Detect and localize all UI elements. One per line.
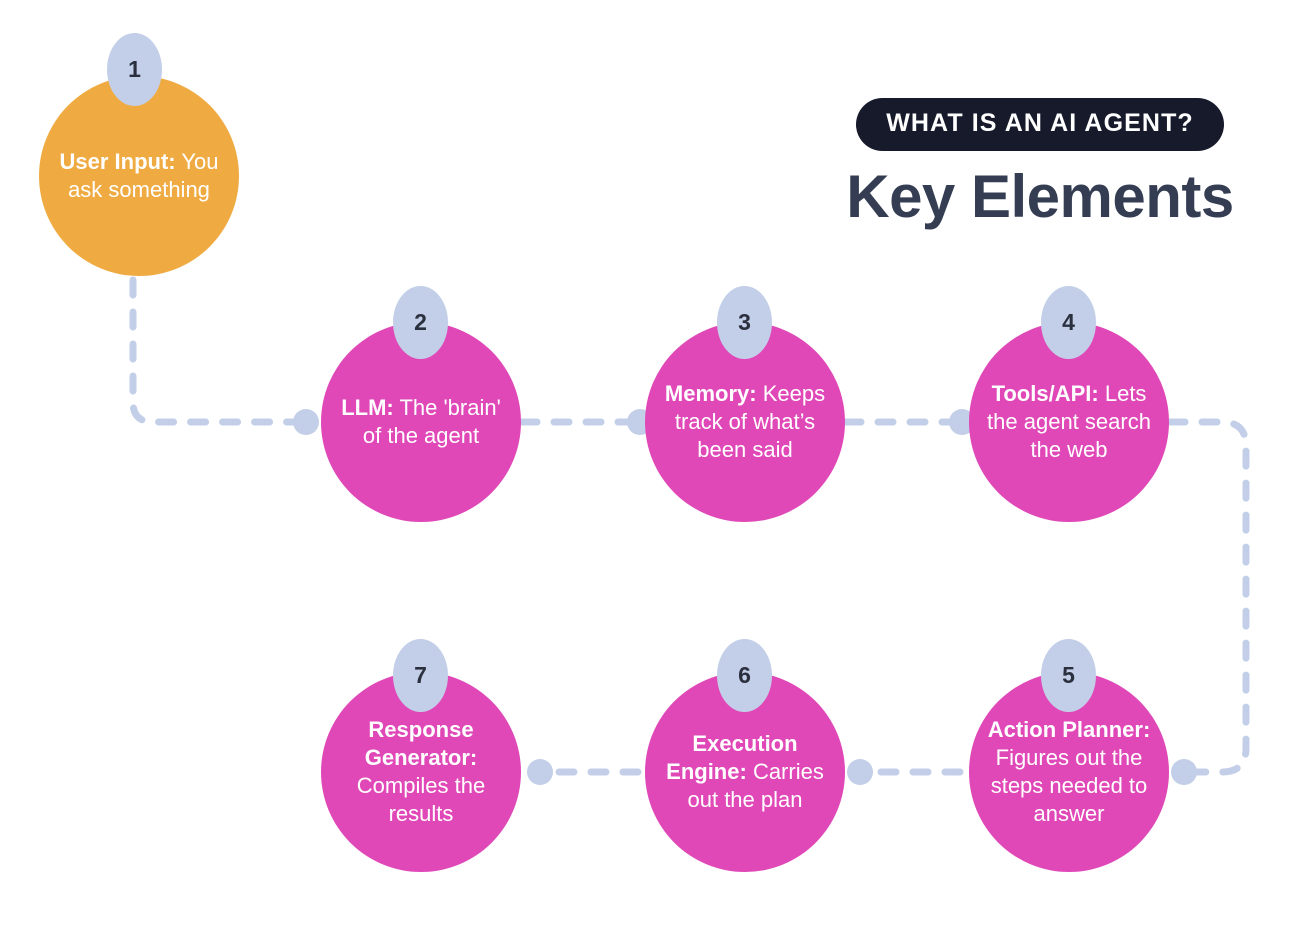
edge-endpoint-dot-2 (293, 409, 319, 435)
node-lead-4: Tools/API: (992, 381, 1099, 406)
node-body-5: Figures out the steps needed to answer (991, 745, 1148, 826)
step-badge-1: 1 (107, 33, 162, 106)
eyebrow-badge: WHAT IS AN AI AGENT? (856, 98, 1224, 151)
node-user-input[interactable]: User Input: You ask something (39, 76, 239, 276)
step-badge-2: 2 (393, 286, 448, 359)
node-body-7: Compiles the results (357, 773, 485, 826)
infographic-canvas: WHAT IS AN AI AGENT? Key Elements 1 User… (0, 0, 1302, 934)
step-badge-4: 4 (1041, 286, 1096, 359)
edge-endpoint-dot-5 (1171, 759, 1197, 785)
node-lead-3: Memory: (665, 381, 757, 406)
node-label-6: Execution Engine: Carries out the plan (657, 730, 833, 814)
node-lead-5: Action Planner: (988, 717, 1151, 742)
step-badge-5: 5 (1041, 639, 1096, 712)
step-badge-7: 7 (393, 639, 448, 712)
node-label-5: Action Planner: Figures out the steps ne… (981, 716, 1157, 828)
node-lead-1: User Input: (60, 149, 176, 174)
node-lead-2: LLM: (341, 395, 394, 420)
node-label-4: Tools/API: Lets the agent search the web (981, 380, 1157, 464)
node-label-1: User Input: You ask something (51, 148, 227, 204)
step-badge-3: 3 (717, 286, 772, 359)
edge-endpoint-dot-7 (527, 759, 553, 785)
header-block: WHAT IS AN AI AGENT? Key Elements (820, 98, 1260, 228)
page-title: Key Elements (820, 165, 1260, 228)
node-label-2: LLM: The 'brain' of the agent (333, 394, 509, 450)
edge-endpoint-dot-6 (847, 759, 873, 785)
edge-4-to-5 (1170, 422, 1246, 772)
node-label-3: Memory: Keeps track of what’s been said (657, 380, 833, 464)
edge-1-to-2 (133, 280, 305, 422)
step-badge-6: 6 (717, 639, 772, 712)
node-label-7: Response Generator: Compiles the results (333, 716, 509, 828)
node-lead-7: Response Generator: (365, 717, 477, 770)
